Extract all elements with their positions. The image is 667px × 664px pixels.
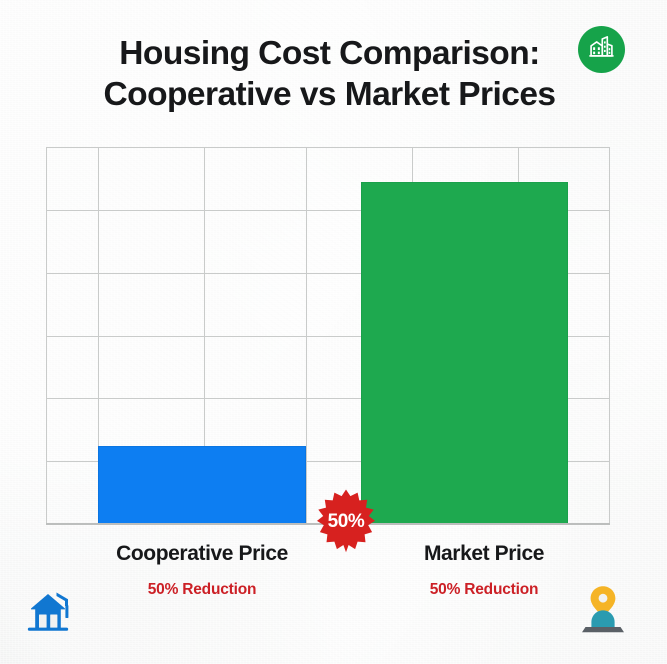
- gridline-vertical: [306, 147, 307, 524]
- category-note-cooperative: 50% Reduction: [46, 581, 358, 599]
- category-note-market: 50% Reduction: [358, 581, 610, 599]
- housing-cost-infographic: Housing Cost Comparison: Cooperative vs …: [0, 0, 667, 664]
- location-person-icon: [580, 584, 626, 634]
- house-icon: [27, 586, 79, 634]
- brand-badge: [578, 26, 625, 73]
- gridline-horizontal: [46, 147, 610, 148]
- bar-cooperative-price: [98, 446, 306, 524]
- category-group-market: Market Price 50% Reduction: [358, 542, 610, 599]
- category-group-cooperative: Cooperative Price 50% Reduction: [46, 542, 358, 599]
- page-title-line-1: Housing Cost Comparison:: [46, 33, 613, 74]
- bar-market-price: [361, 182, 568, 524]
- page-title: Housing Cost Comparison: Cooperative vs …: [0, 33, 667, 115]
- category-label-market: Market Price: [358, 542, 610, 566]
- category-label-cooperative: Cooperative Price: [46, 542, 358, 566]
- gridline-vertical: [609, 147, 610, 524]
- status-badge-label: 50%: [328, 511, 365, 533]
- page-title-line-2: Cooperative vs Market Prices: [46, 74, 613, 115]
- chart-plot-area: [46, 147, 610, 524]
- gridline-vertical: [46, 147, 47, 524]
- building-icon: [588, 34, 615, 66]
